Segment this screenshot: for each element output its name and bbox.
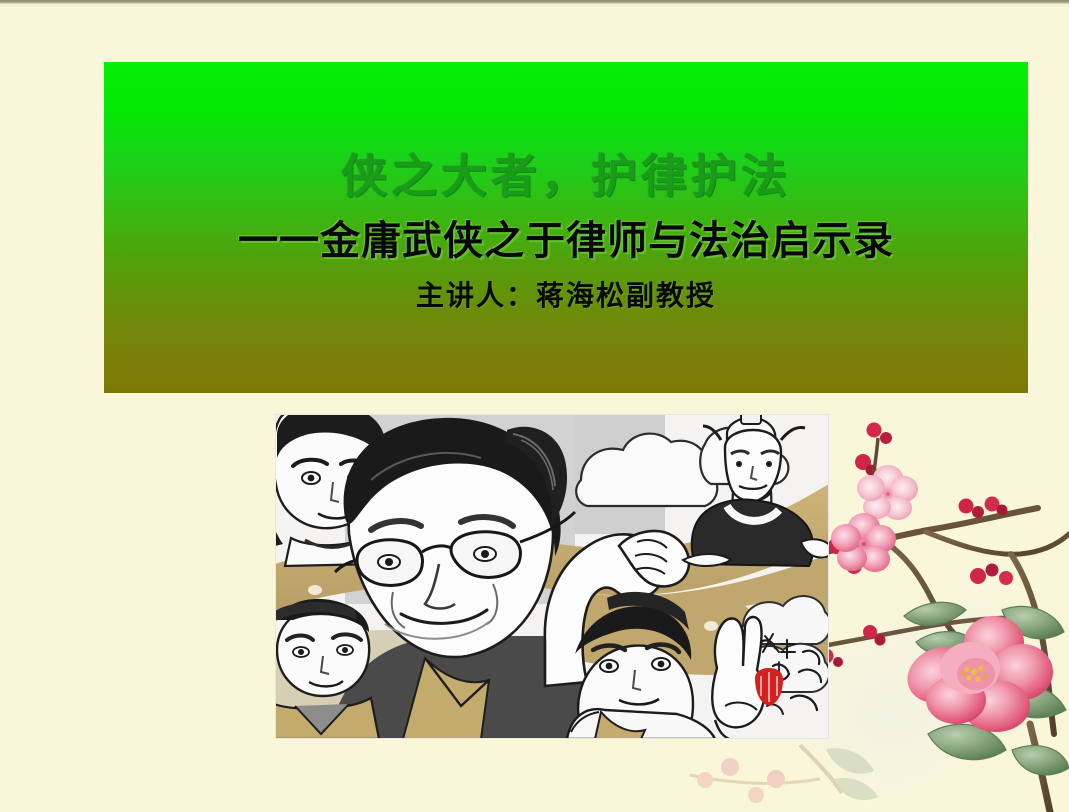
presentation-slide: 侠之大者，护律护法 一一金庸武侠之于律师与法治启示录 主讲人：蒋海松副教授 xyxy=(0,0,1069,812)
faint-blossom-decoration xyxy=(590,735,890,812)
speaker-line: 主讲人：蒋海松副教授 xyxy=(104,274,1028,314)
page-title: 侠之大者，护律护法 xyxy=(104,140,1028,206)
page-subtitle: 一一金庸武侠之于律师与法治启示录 xyxy=(104,208,1028,266)
top-rule-highlight xyxy=(0,4,1069,7)
illustration-panel xyxy=(275,414,829,739)
title-banner: 侠之大者，护律护法 一一金庸武侠之于律师与法治启示录 主讲人：蒋海松副教授 xyxy=(104,62,1028,393)
